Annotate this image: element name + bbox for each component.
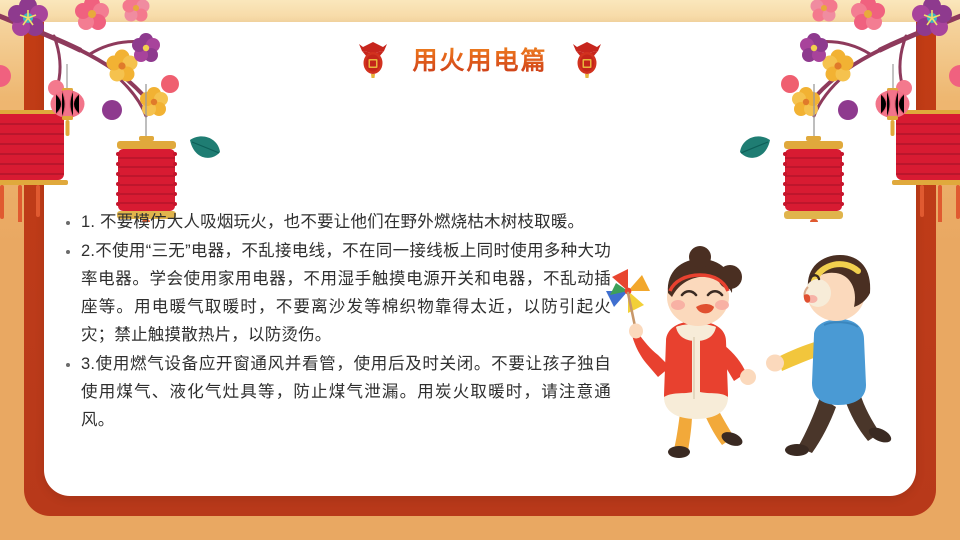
boy-with-earmuffs [766, 255, 893, 456]
hair-bun [718, 265, 742, 289]
title-row: 用火用电篇 [0, 40, 960, 78]
bullet-dot-icon [66, 250, 70, 254]
children-illustration [592, 245, 922, 470]
slide: 用火用电篇 1. 不要模仿大人吸烟玩火，也不要让他们在野外燃烧枯木树枝取暖。 2… [0, 0, 960, 540]
top-strip [0, 0, 960, 22]
list-item-text: 2.不使用“三无”电器，不乱接电线，不在同一接线板上同时使用多种大功率电器。学会… [81, 237, 611, 349]
list-item: 1. 不要模仿大人吸烟玩火，也不要让他们在野外燃烧枯木树枝取暖。 [66, 208, 611, 236]
bullet-dot-icon [66, 221, 70, 225]
bullet-dot-icon [66, 363, 70, 367]
list-item-text: 3.使用燃气设备应开窗通风并看管，使用后及时关闭。不要让孩子独自使用煤气、液化气… [81, 350, 611, 434]
list-item: 3.使用燃气设备应开窗通风并看管，使用后及时关闭。不要让孩子独自使用煤气、液化气… [66, 350, 611, 434]
chinese-knot-right-icon [570, 40, 604, 78]
earmuff-icon [805, 279, 831, 307]
list-item: 2.不使用“三无”电器，不乱接电线，不在同一接线板上同时使用多种大功率电器。学会… [66, 237, 611, 349]
chinese-knot-left-icon [356, 40, 390, 78]
list-item-text: 1. 不要模仿大人吸烟玩火，也不要让他们在野外燃烧枯木树枝取暖。 [81, 208, 584, 236]
girl-with-pinwheel [606, 246, 756, 458]
safety-tips-list: 1. 不要模仿大人吸烟玩火，也不要让他们在野外燃烧枯木树枝取暖。 2.不使用“三… [66, 208, 611, 435]
pinwheel-icon [606, 269, 650, 331]
page-title: 用火用电篇 [412, 41, 547, 77]
hair-bun [689, 246, 711, 268]
